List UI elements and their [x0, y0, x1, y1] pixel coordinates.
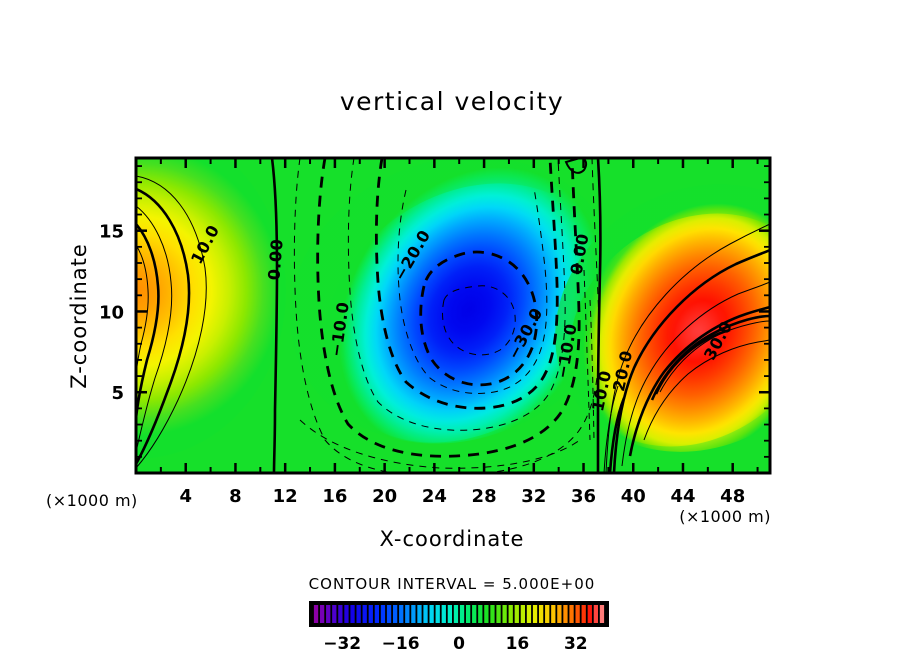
colorbar-band — [423, 605, 427, 623]
colorbar-band — [557, 605, 561, 623]
colorbar-band — [417, 605, 421, 623]
colorbar-band — [490, 605, 494, 623]
plot-area — [0, 111, 894, 504]
colorbar-tick-label: −16 — [382, 634, 420, 654]
colorbar-tick-labels: −32−1601632 — [323, 634, 587, 654]
colorbar-band — [411, 605, 415, 623]
colorbar-band — [600, 605, 604, 623]
colorbar-caption: CONTOUR INTERVAL = 5.000E+00 — [309, 575, 596, 593]
axis-tick-label: 44 — [670, 486, 695, 507]
x-axis-unit-label: (×1000 m) — [679, 507, 771, 526]
colorbar-band — [332, 605, 336, 623]
colorbar-band — [369, 605, 373, 623]
colorbar-band — [320, 605, 324, 623]
axis-tick-label: 48 — [720, 486, 745, 507]
colorbar-band — [515, 605, 519, 623]
colorbar-band — [454, 605, 458, 623]
colorbar-band — [442, 605, 446, 623]
colorbar-tick-label: −32 — [323, 634, 361, 654]
colorbar-band — [521, 605, 525, 623]
y-axis-title: Z-coordinate — [67, 243, 91, 389]
colorbar-band — [594, 605, 598, 623]
colorbar-band — [563, 605, 567, 623]
left-updraft-fill — [0, 123, 286, 459]
colorbar-band — [429, 605, 433, 623]
axis-tick-label: 40 — [621, 486, 646, 507]
colorbar-band — [326, 605, 330, 623]
colorbar-band — [387, 605, 391, 623]
colorbar-band — [582, 605, 586, 623]
axis-tick-label: 28 — [472, 486, 497, 507]
contour-label-text: 0.00 — [264, 238, 287, 281]
colorbar-band — [496, 605, 500, 623]
colorbar-band — [399, 605, 403, 623]
colorbar-band — [588, 605, 592, 623]
colorbar-band — [569, 605, 573, 623]
colorbar-band — [527, 605, 531, 623]
y-axis-unit-label: (×1000 m) — [46, 491, 138, 510]
colorbar-band — [363, 605, 367, 623]
colorbar-band — [344, 605, 348, 623]
axis-tick-label: 12 — [273, 486, 298, 507]
contour-fill-layer — [0, 111, 894, 504]
contour-plot-figure: vertical velocity — [0, 0, 904, 654]
axis-tick-label: 10 — [99, 302, 124, 323]
colorbar-band — [478, 605, 482, 623]
colorbar-band — [381, 605, 385, 623]
colorbar-tick-label: 0 — [453, 634, 465, 654]
colorbar-band — [338, 605, 342, 623]
colorbar-band — [448, 605, 452, 623]
axis-tick-label: 32 — [521, 486, 546, 507]
colorbar: CONTOUR INTERVAL = 5.000E+00 −32−1601632 — [309, 575, 609, 654]
y-axis-title-group: Z-coordinate — [67, 243, 91, 389]
colorbar-band — [393, 605, 397, 623]
axis-tick-label: 24 — [422, 486, 447, 507]
colorbar-band — [375, 605, 379, 623]
colorbar-band — [502, 605, 506, 623]
colorbar-band — [484, 605, 488, 623]
colorbar-tick-label: 16 — [506, 634, 530, 654]
colorbar-band — [545, 605, 549, 623]
axis-tick-label: 4 — [179, 486, 192, 507]
x-axis-title: X-coordinate — [380, 527, 525, 551]
axis-tick-label: 15 — [99, 222, 124, 243]
axis-tick-label: 8 — [229, 486, 242, 507]
colorbar-tick-label: 32 — [564, 634, 588, 654]
axis-tick-label: 5 — [111, 383, 124, 404]
colorbar-band — [314, 605, 318, 623]
colorbar-band — [472, 605, 476, 623]
page-title: vertical velocity — [340, 87, 564, 116]
colorbar-band — [350, 605, 354, 623]
colorbar-band — [460, 605, 464, 623]
colorbar-band — [533, 605, 537, 623]
colorbar-band — [551, 605, 555, 623]
axis-tick-label: 16 — [322, 486, 347, 507]
colorbar-band — [436, 605, 440, 623]
axis-tick-label: 36 — [571, 486, 596, 507]
colorbar-band — [466, 605, 470, 623]
colorbar-band — [575, 605, 579, 623]
colorbar-band — [509, 605, 513, 623]
colorbar-band — [405, 605, 409, 623]
colorbar-band — [356, 605, 360, 623]
axis-tick-label: 20 — [372, 486, 397, 507]
contour-label: 0.00 — [264, 238, 287, 281]
colorbar-band — [539, 605, 543, 623]
